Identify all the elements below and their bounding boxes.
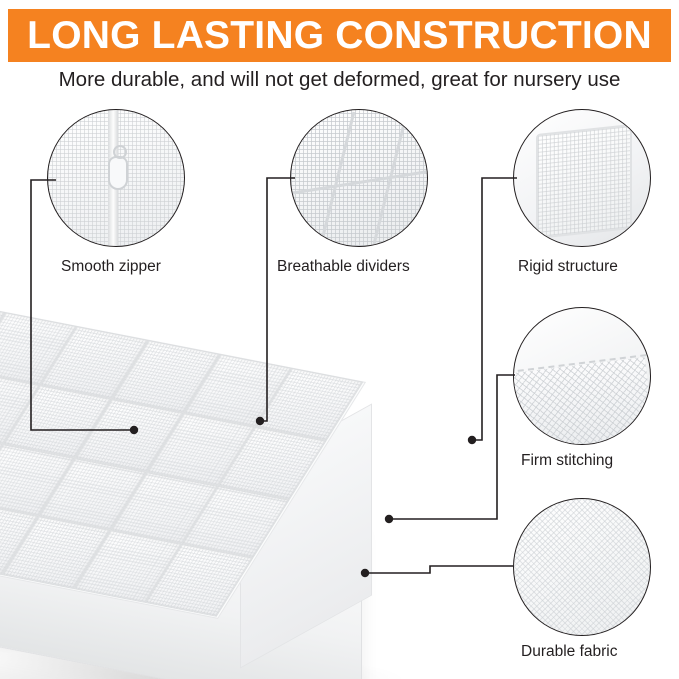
callout-label-rigid-structure: Rigid structure [518,258,618,276]
divider-seam [292,170,427,194]
callout-label-firm-stitching: Firm stitching [521,452,613,470]
callout-label-breathable-dividers: Breathable dividers [277,258,410,276]
stitch-mesh-detail [513,357,651,445]
callout-image-breathable-dividers [290,109,428,247]
rigid-corner-detail [536,124,632,239]
callout-image-firm-stitching [513,307,651,445]
page-subtitle: More durable, and will not get deformed,… [0,68,679,92]
divider-seam [319,112,355,245]
callout-image-smooth-zipper [47,109,185,247]
product-feature-infographic: LONG LASTING CONSTRUCTION More durable, … [0,0,679,679]
drawer-organizer [0,320,510,679]
header-banner: LONG LASTING CONSTRUCTION [8,9,671,62]
zipper-pull-icon [108,156,128,190]
callout-label-durable-fabric: Durable fabric [521,643,618,661]
page-title: LONG LASTING CONSTRUCTION [27,16,652,55]
callout-image-durable-fabric [513,498,651,636]
callout-label-smooth-zipper: Smooth zipper [61,258,161,276]
callout-image-rigid-structure [513,109,651,247]
